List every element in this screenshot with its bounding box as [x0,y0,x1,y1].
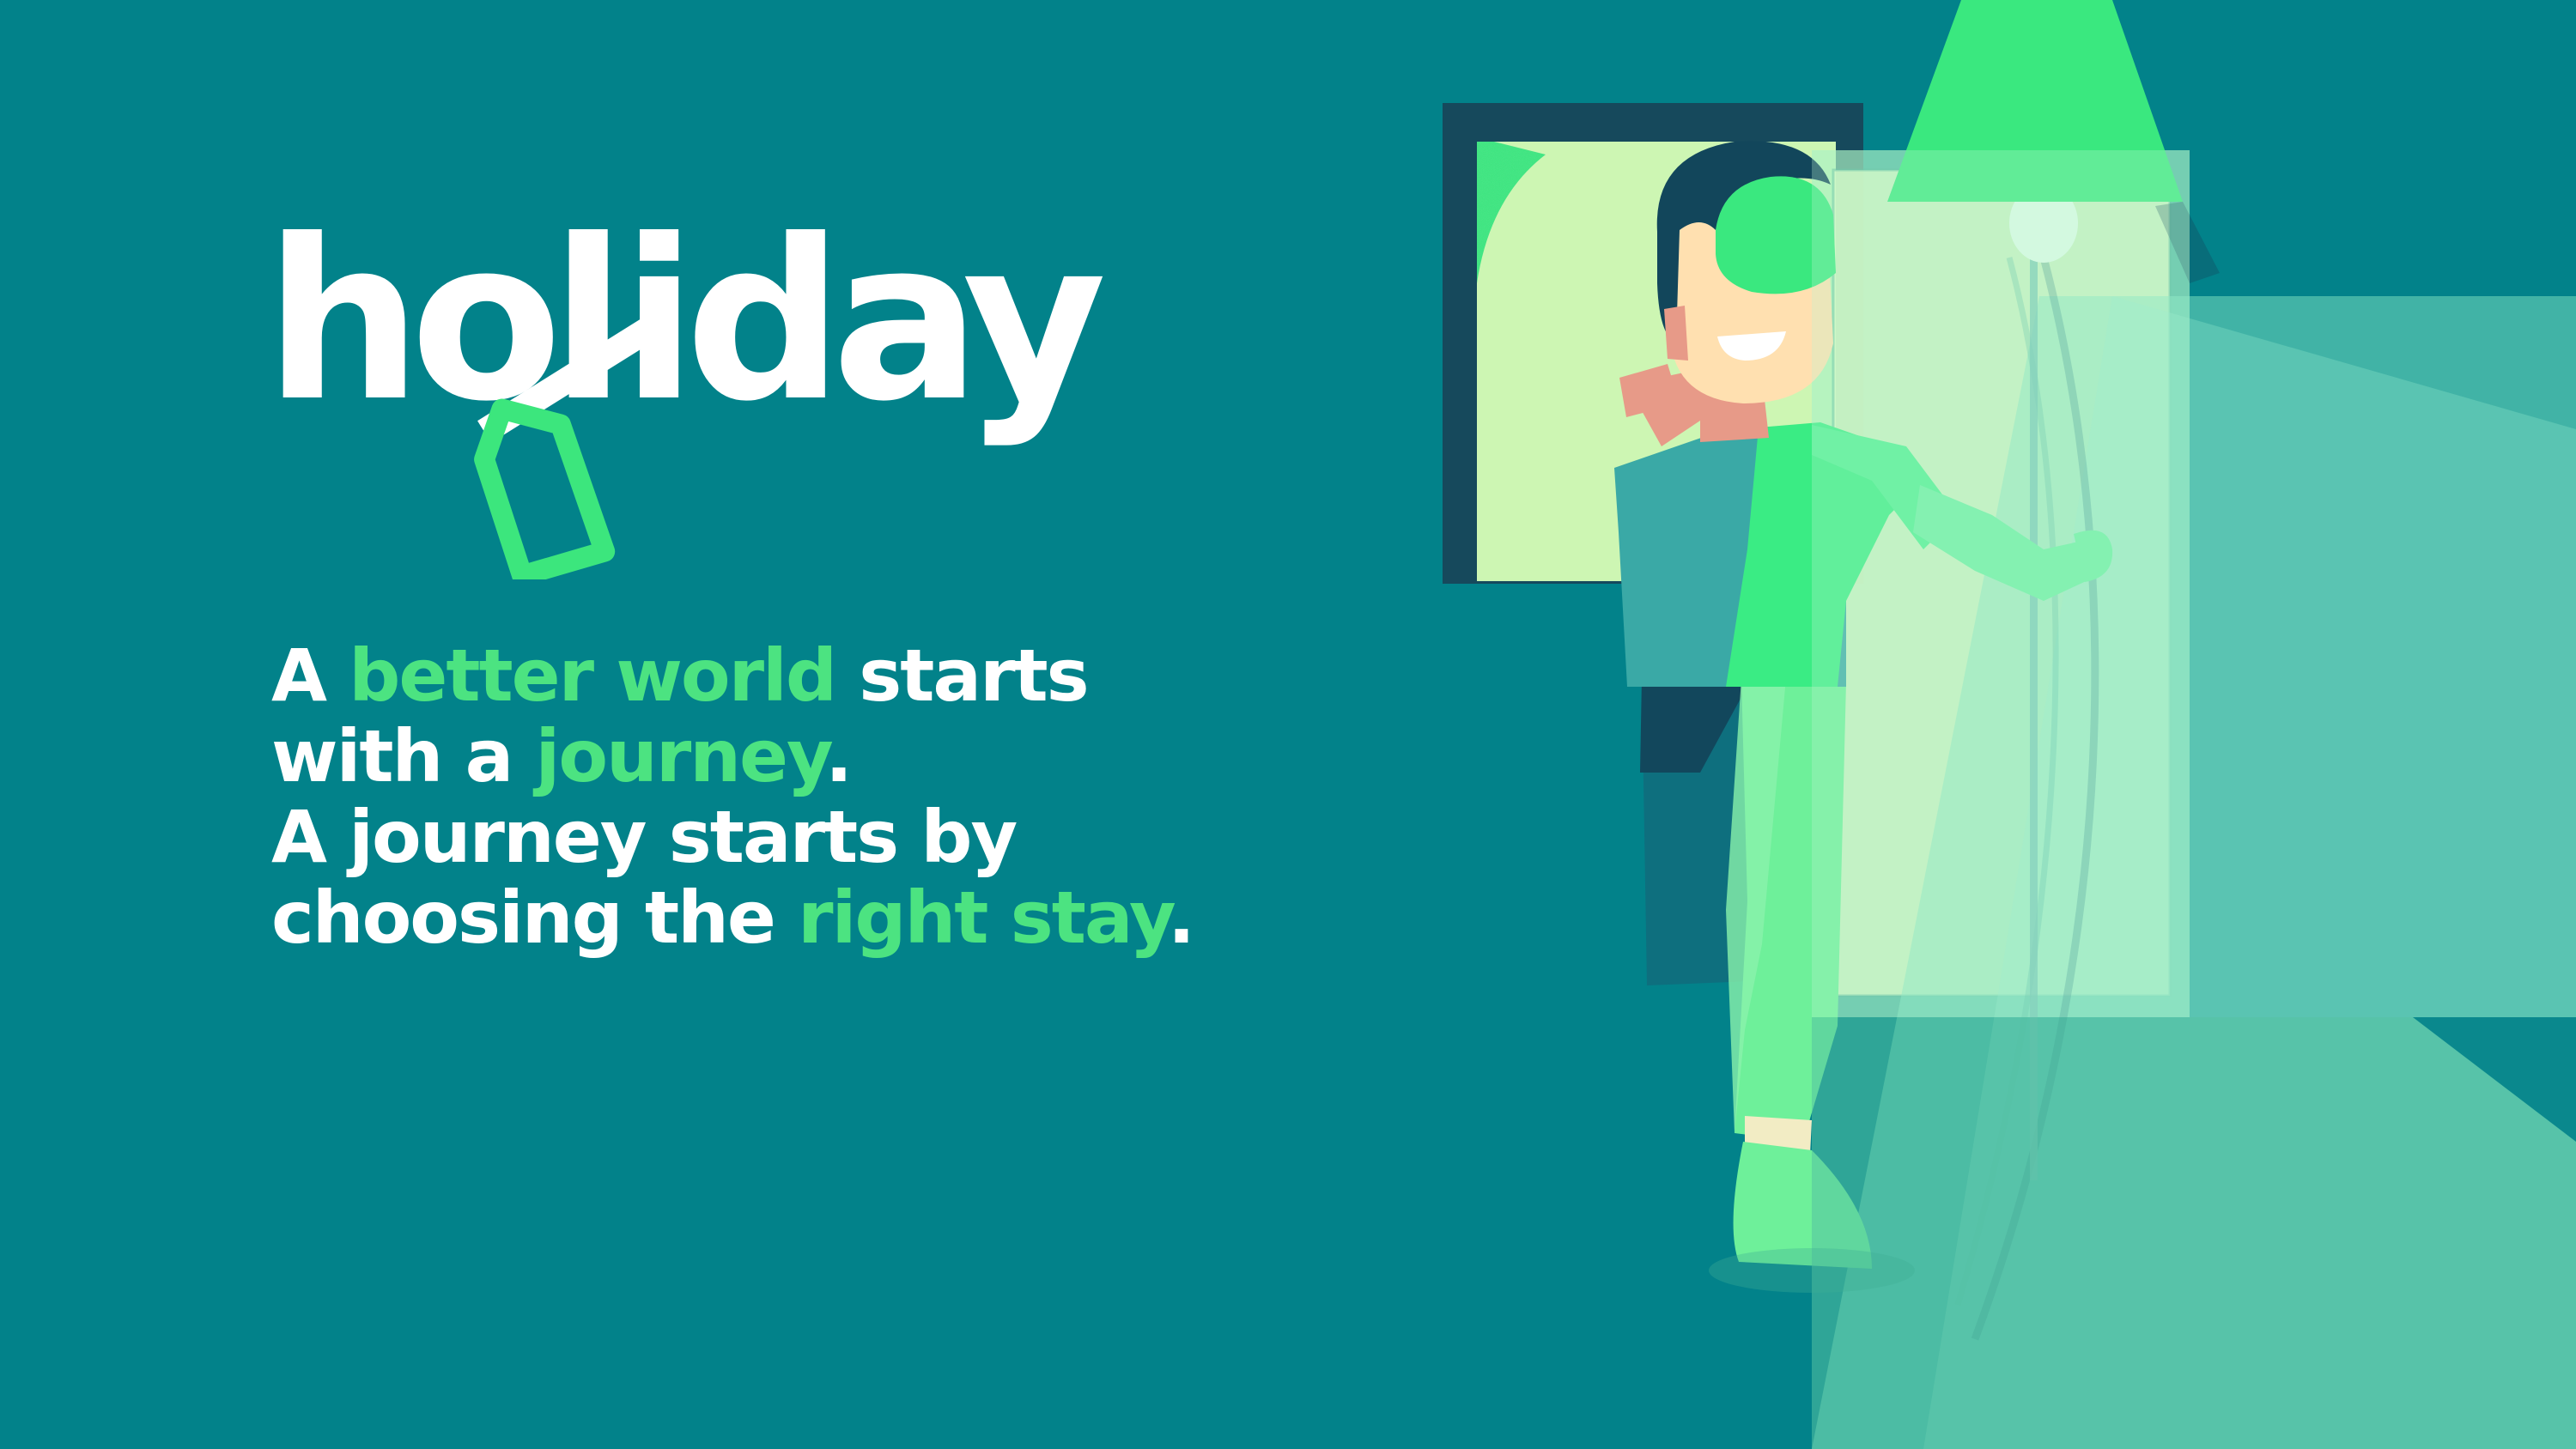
poster-canvas: holiday A better world starts with a jou… [0,0,2576,1449]
tagline-l4-accent: right stay [798,876,1168,960]
tagline-l1-b: starts [835,634,1088,718]
hero-illustration [1443,0,2576,1449]
brand-logo[interactable]: holiday [271,210,1233,622]
tagline-l4-a: choosing the [271,876,798,960]
tagline-line-1: A better world starts [271,635,1456,716]
tagline-line-4: choosing the right stay. [271,877,1456,958]
tagline-l4-b: . [1168,876,1194,960]
content-column: holiday A better world starts with a jou… [271,0,1473,1449]
tagline: A better world starts with a journey. A … [271,635,1456,958]
tagline-l2-a: with a [271,714,536,798]
tagline-l1-a: A [271,634,349,718]
tagline-l2-accent: journey [536,714,826,798]
logo-text-iday: iday [621,192,1094,450]
tagline-line-3: A journey starts by [271,797,1456,877]
tagline-l1-accent: better world [349,634,835,718]
floor-tone [1812,1017,2576,1449]
logo-text-l: l [550,192,621,450]
tagline-l2-b: . [825,714,851,798]
tagline-line-2: with a journey. [271,716,1456,797]
shoe-ground-shadow [1709,1248,1915,1293]
logo-wordmark: holiday [264,210,1095,432]
